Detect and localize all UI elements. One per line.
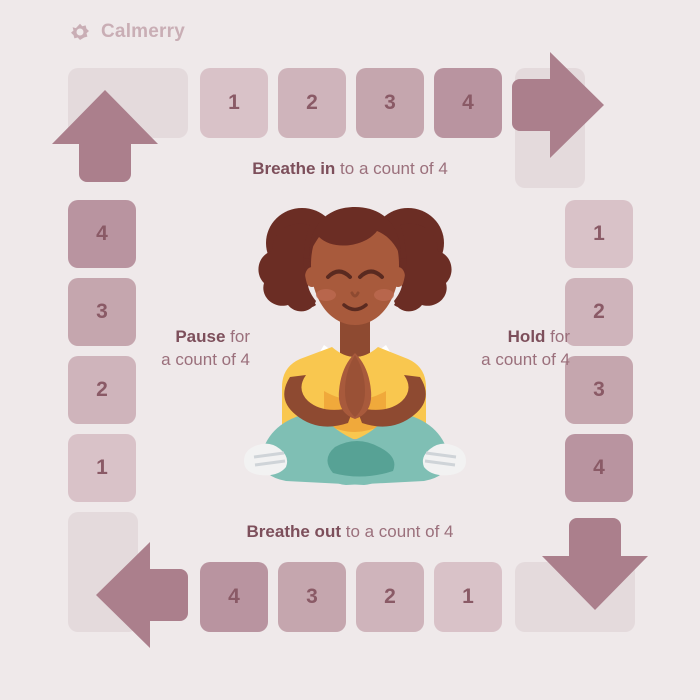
count-box-bottom-2: 2 [356,562,424,632]
count-box-bottom-1-value: 1 [462,585,474,609]
label-pause: Pause for a count of 4 [100,325,250,371]
brand-logo: Calmerry [68,20,185,44]
count-box-bottom-3-value: 3 [306,585,318,609]
count-box-top-1: 1 [200,68,268,138]
count-box-right-3: 3 [565,356,633,424]
label-breathe-out-rest: to a count of 4 [341,522,453,541]
count-box-right-4: 4 [565,434,633,502]
count-box-left-4: 4 [68,200,136,268]
count-box-left-3-value: 3 [96,300,108,324]
count-box-bottom-2-value: 2 [384,585,396,609]
count-box-left-4-value: 4 [96,222,108,246]
count-box-bottom-4-value: 4 [228,585,240,609]
count-box-top-1-value: 1 [228,91,240,115]
cheek-right [374,289,394,301]
count-box-right-4-value: 4 [593,456,605,480]
label-breathe-in: Breathe in to a count of 4 [0,157,700,180]
count-box-left-1: 1 [68,434,136,502]
count-box-right-2-value: 2 [593,300,605,324]
label-pause-bold: Pause [175,327,225,346]
count-box-right-1: 1 [565,200,633,268]
count-box-bottom-1: 1 [434,562,502,632]
flower-logo-icon [68,20,92,44]
arrow-right-icon [510,50,606,160]
label-breathe-out: Breathe out to a count of 4 [0,520,700,543]
label-breathe-in-rest: to a count of 4 [335,159,447,178]
count-box-top-3-value: 3 [384,91,396,115]
count-box-right-2: 2 [565,278,633,346]
arrow-left-icon [94,540,190,650]
count-box-top-4: 4 [434,68,502,138]
count-box-bottom-4: 4 [200,562,268,632]
count-box-right-1-value: 1 [593,222,605,246]
ear-right [391,267,405,287]
count-box-top-2: 2 [278,68,346,138]
count-box-right-3-value: 3 [593,378,605,402]
ear-left [305,267,319,287]
count-box-left-2-value: 2 [96,378,108,402]
label-breathe-out-bold: Breathe out [247,522,341,541]
count-box-left-1-value: 1 [96,456,108,480]
cheek-left [316,289,336,301]
count-box-bottom-3: 3 [278,562,346,632]
count-box-top-2-value: 2 [306,91,318,115]
count-box-top-3: 3 [356,68,424,138]
meditating-woman-illustration [240,195,470,485]
brand-name: Calmerry [101,21,185,43]
label-hold-bold: Hold [508,327,546,346]
breathing-exercise-infographic: Calmerry 1 2 3 4 1 2 3 4 4 3 2 1 4 3 2 1 [0,0,700,700]
neck [340,320,370,358]
label-breathe-in-bold: Breathe in [252,159,335,178]
count-box-top-4-value: 4 [462,91,474,115]
